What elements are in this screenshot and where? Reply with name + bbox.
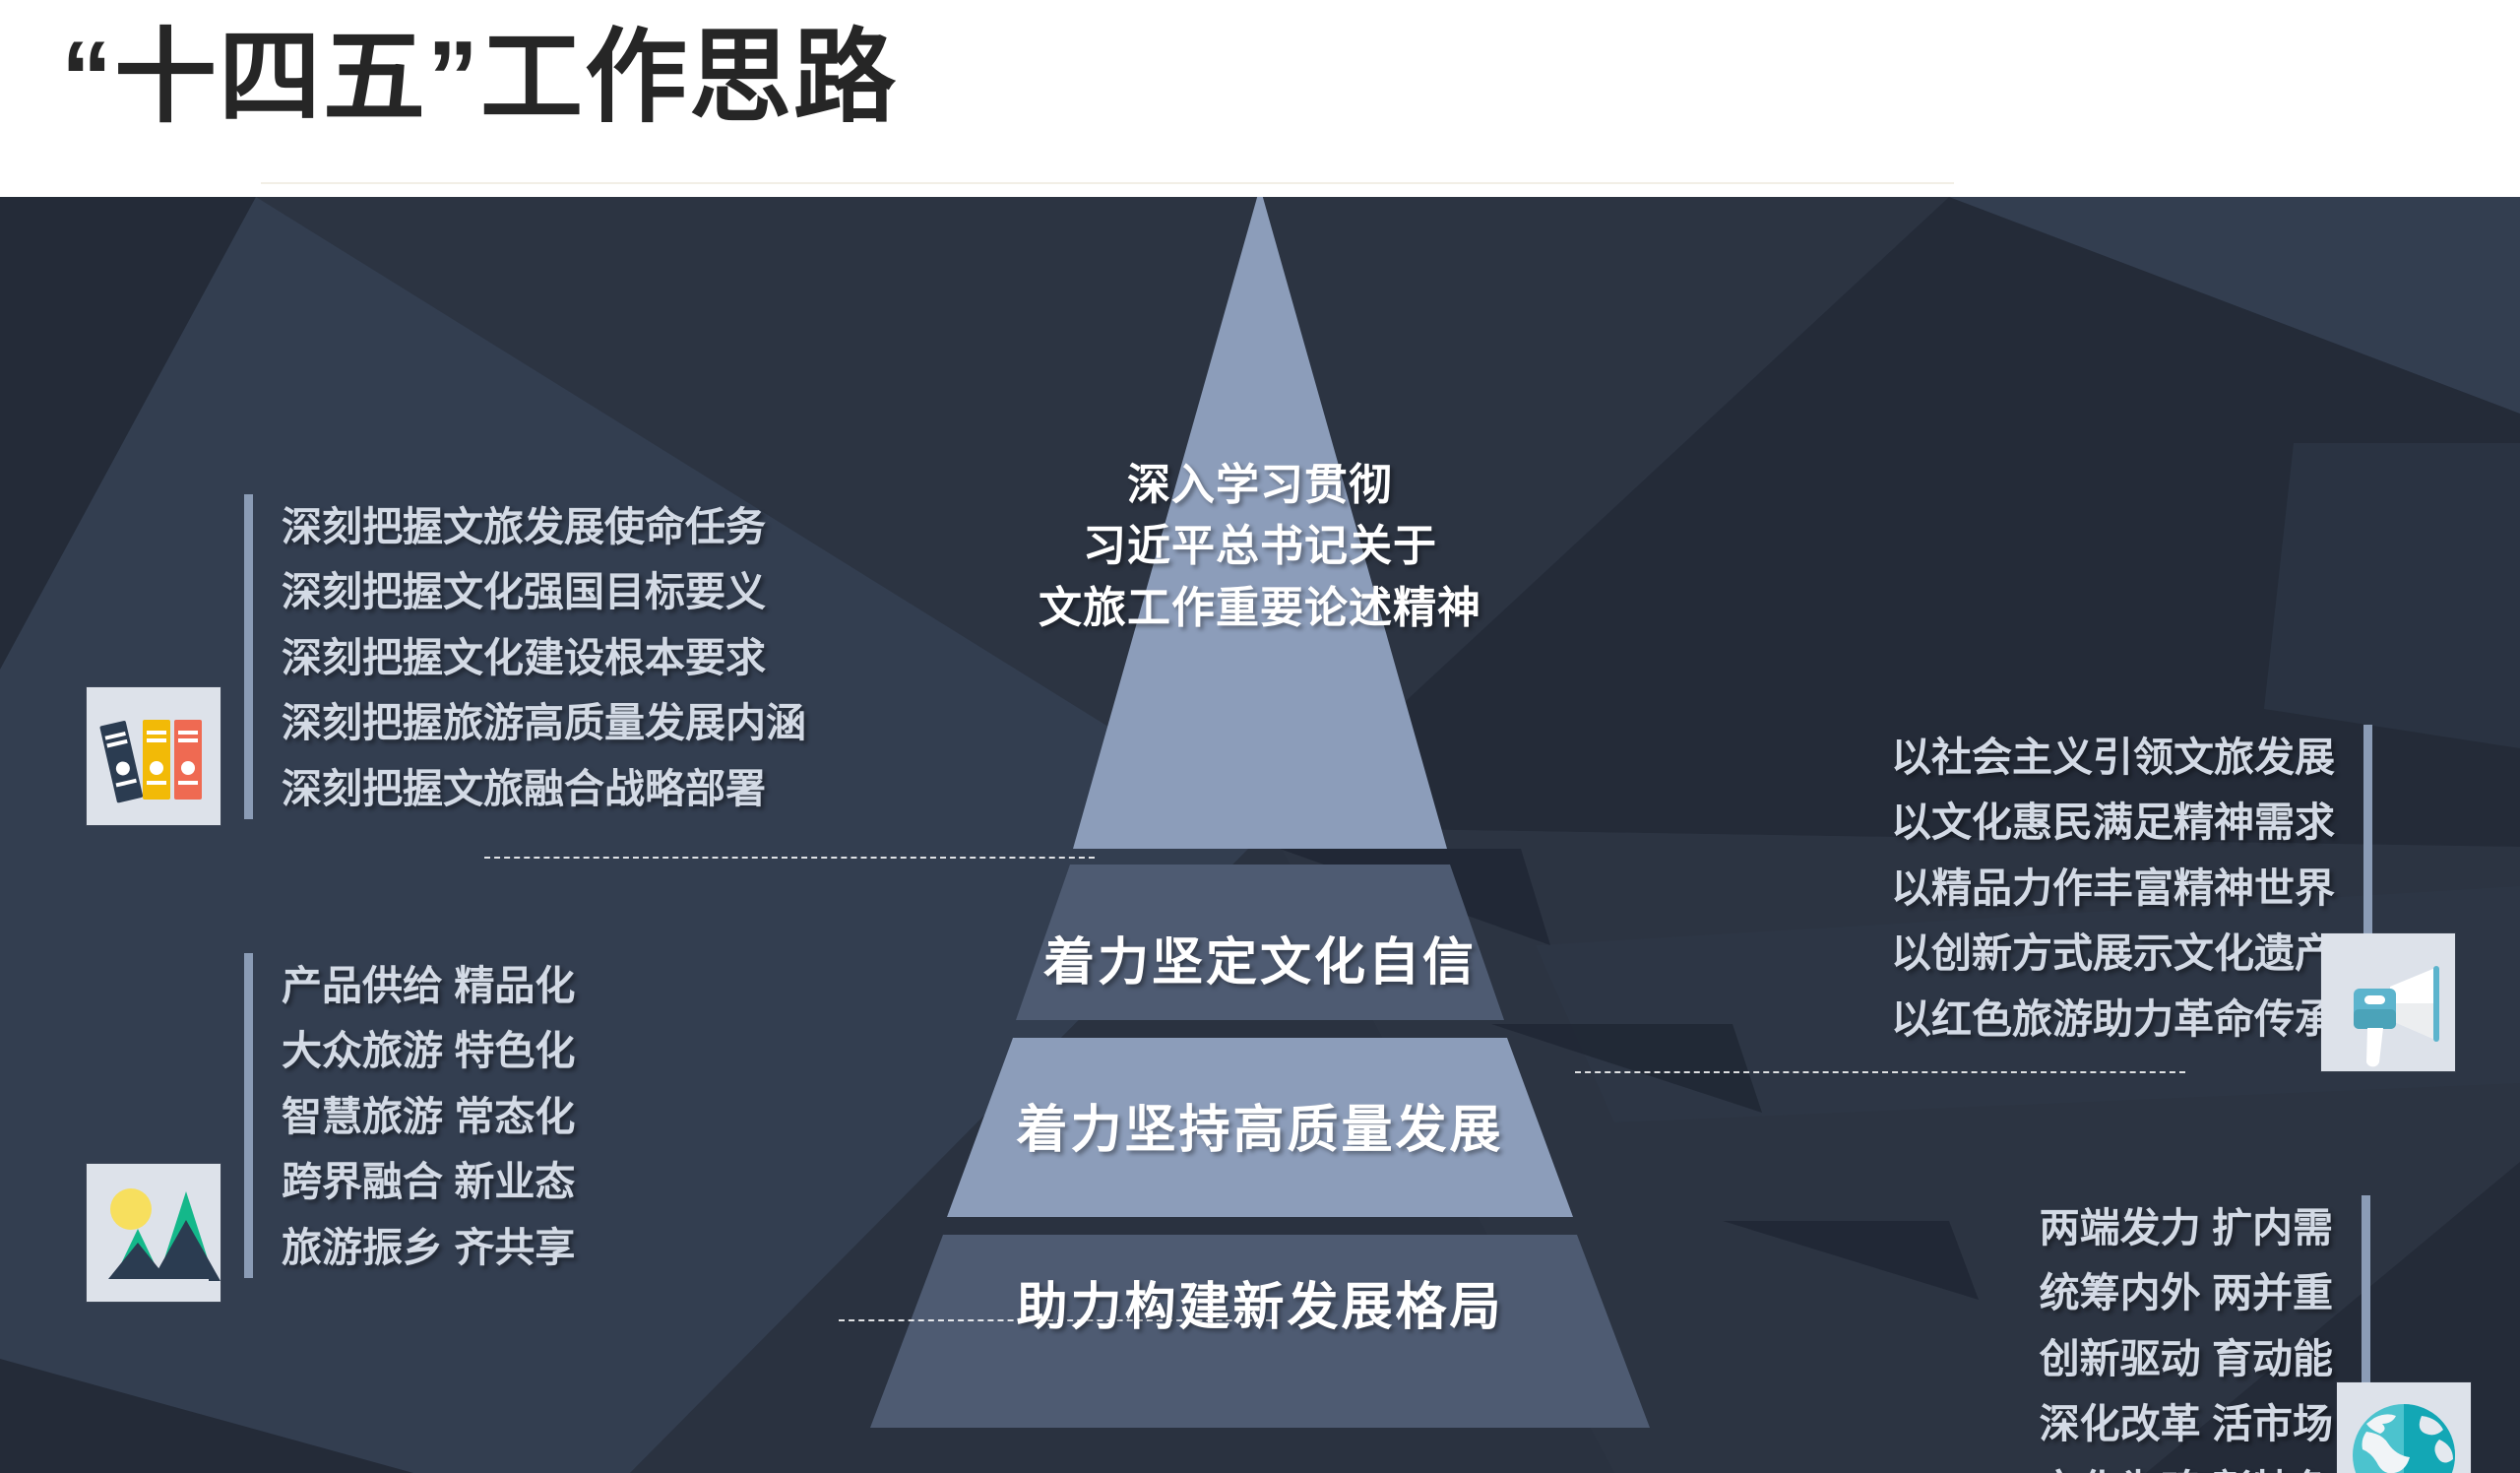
list-item: 以文化惠民满足精神需求 (1891, 790, 2335, 855)
list-item: 深化改革 活市场 (2040, 1391, 2333, 1456)
title-divider (261, 182, 1954, 184)
list-item: 深刻把握文化强国目标要义 (282, 559, 806, 624)
apex-line-3: 文旅工作重要论述精神 (866, 578, 1654, 639)
callout-bottom-left-list: 产品供给 精品化 大众旅游 特色化 智慧旅游 常态化 跨界融合 新业态 旅游振乡… (282, 953, 575, 1280)
callout-bottom-left: 产品供给 精品化 大众旅游 特色化 智慧旅游 常态化 跨界融合 新业态 旅游振乡… (244, 953, 795, 1278)
pyramid-tier-4-label: 助力构建新发展格局 (807, 1265, 1713, 1339)
list-item: 产品供给 精品化 (282, 953, 575, 1018)
list-item: 以红色旅游助力革命传承 (1891, 987, 2335, 1052)
apex-line-2: 习近平总书记关于 (866, 516, 1654, 577)
page-title: “十四五”工作思路 (61, 20, 898, 138)
list-item: 大众旅游 特色化 (282, 1018, 575, 1083)
pyramid-tier-3-label: 着力坚持高质量发展 (847, 1088, 1673, 1162)
list-item: 深刻把握文旅发展使命任务 (282, 494, 806, 559)
list-item: 智慧旅游 常态化 (282, 1084, 575, 1149)
list-item: 两端发力 扩内需 (2040, 1195, 2333, 1260)
list-item: 以创新方式展示文化遗产 (1891, 921, 2335, 986)
slide-body: 深入学习贯彻 习近平总书记关于 文旅工作重要论述精神 着力坚定文化自信 着力坚持… (0, 197, 2520, 1473)
callout-top-left: 深刻把握文旅发展使命任务 深刻把握文化强国目标要义 深刻把握文化建设根本要求 深… (244, 494, 933, 819)
list-item: 深刻把握旅游高质量发展内涵 (282, 690, 806, 755)
connector-top-right (1575, 1071, 2185, 1073)
slide-header: “十四五”工作思路 (0, 0, 2520, 197)
list-item: 统筹内外 两并重 (2040, 1260, 2333, 1325)
callout-accent-bar (244, 953, 253, 1278)
callout-top-left-list: 深刻把握文旅发展使命任务 深刻把握文化强国目标要义 深刻把握文化建设根本要求 深… (282, 494, 806, 821)
list-item: 跨界融合 新业态 (282, 1149, 575, 1214)
list-item: 深刻把握文化建设根本要求 (282, 625, 806, 690)
callout-top-right-list: 以社会主义引领文旅发展 以文化惠民满足精神需求 以精品力作丰富精神世界 以创新方… (1891, 725, 2335, 1052)
connector-top-left (484, 857, 1095, 859)
list-item: 以社会主义引领文旅发展 (1891, 725, 2335, 790)
callout-top-right: 以社会主义引领文旅发展 以文化惠民满足精神需求 以精品力作丰富精神世界 以创新方… (1782, 725, 2372, 1050)
globe-icon (2337, 1382, 2471, 1473)
slide-canvas: “十四五”工作思路 (0, 0, 2520, 1473)
megaphone-icon (2321, 933, 2455, 1071)
list-item: 旅游振乡 齐共享 (282, 1215, 575, 1280)
list-item: 深刻把握文旅融合战略部署 (282, 756, 806, 821)
list-item: 创新驱动 育动能 (2040, 1326, 2333, 1391)
pyramid-apex-label: 深入学习贯彻 习近平总书记关于 文旅工作重要论述精神 (866, 455, 1654, 639)
callout-accent-bar (244, 494, 253, 819)
binders-icon (87, 687, 220, 825)
callout-bottom-right-list: 两端发力 扩内需 统筹内外 两并重 创新驱动 育动能 深化改革 活市场 文化为魂… (2040, 1195, 2333, 1473)
callout-bottom-right: 两端发力 扩内需 统筹内外 两并重 创新驱动 育动能 深化改革 活市场 文化为魂… (1849, 1195, 2370, 1473)
pyramid-tier-2-label: 着力坚定文化自信 (866, 921, 1654, 994)
list-item: 以精品力作丰富精神世界 (1891, 856, 2335, 921)
list-item: 文化为魂 彰特色 (2040, 1457, 2333, 1473)
apex-line-1: 深入学习贯彻 (866, 455, 1654, 516)
mountain-photo-icon (87, 1164, 220, 1302)
